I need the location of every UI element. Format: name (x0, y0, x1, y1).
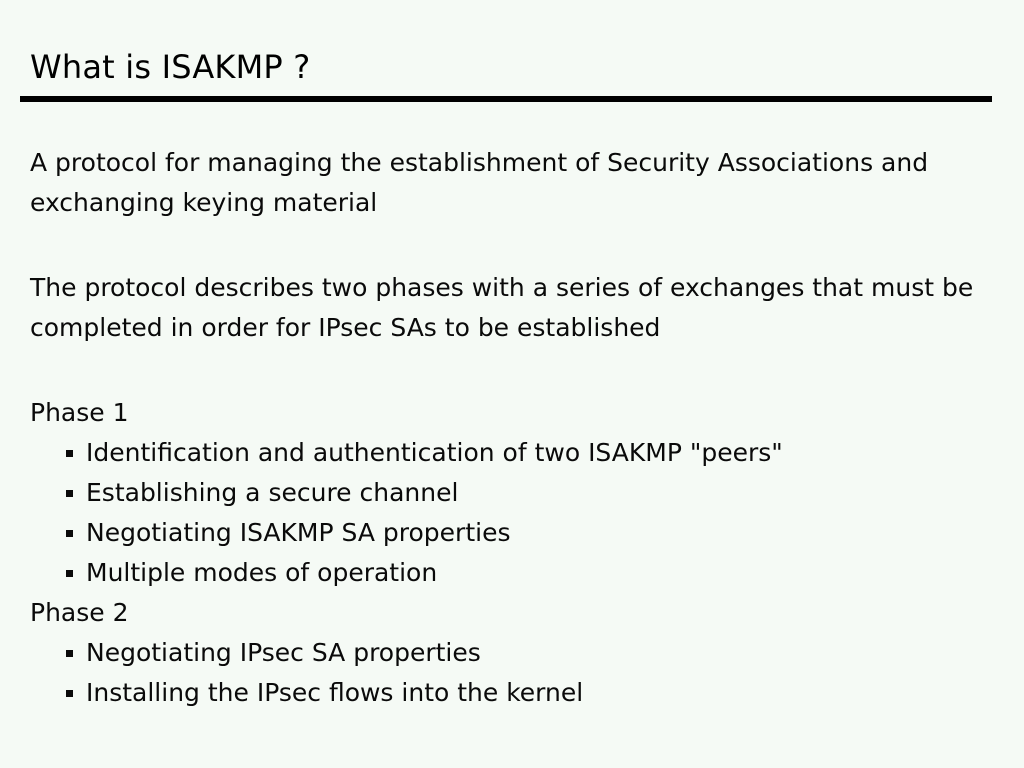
list-item: Establishing a secure channel (30, 473, 994, 513)
title-block: What is ISAKMP ? (0, 46, 1024, 88)
list-item: Installing the IPsec flows into the kern… (30, 673, 994, 713)
slide-body: A protocol for managing the establishmen… (30, 143, 994, 713)
list-item-label: Negotiating IPsec SA properties (86, 638, 481, 667)
square-bullet-icon (66, 570, 73, 577)
square-bullet-icon (66, 650, 73, 657)
phase-2-heading: Phase 2 (30, 593, 994, 633)
intro-paragraph-2: The protocol describes two phases with a… (30, 268, 985, 348)
list-item-label: Installing the IPsec flows into the kern… (86, 678, 583, 707)
list-item-label: Multiple modes of operation (86, 558, 437, 587)
phase-2-bullet-list: Negotiating IPsec SA properties Installi… (30, 633, 994, 713)
list-item: Negotiating ISAKMP SA properties (30, 513, 994, 553)
list-item: Negotiating IPsec SA properties (30, 633, 994, 673)
slide: What is ISAKMP ? A protocol for managing… (0, 0, 1024, 768)
square-bullet-icon (66, 450, 73, 457)
square-bullet-icon (66, 530, 73, 537)
paragraph-spacer (30, 223, 994, 268)
list-item: Identification and authentication of two… (30, 433, 994, 473)
title-divider (20, 96, 992, 102)
list-item-label: Establishing a secure channel (86, 478, 458, 507)
page-title: What is ISAKMP ? (0, 46, 1024, 88)
list-item-label: Identification and authentication of two… (86, 438, 783, 467)
list-item: Multiple modes of operation (30, 553, 994, 593)
square-bullet-icon (66, 490, 73, 497)
phase-1-bullet-list: Identification and authentication of two… (30, 433, 994, 593)
section-spacer (30, 348, 994, 393)
section-phase-2: Phase 2 Negotiating IPsec SA properties … (30, 593, 994, 713)
square-bullet-icon (66, 690, 73, 697)
intro-paragraph-1: A protocol for managing the establishmen… (30, 143, 985, 223)
section-phase-1: Phase 1 Identification and authenticatio… (30, 393, 994, 593)
phase-1-heading: Phase 1 (30, 393, 994, 433)
list-item-label: Negotiating ISAKMP SA properties (86, 518, 510, 547)
